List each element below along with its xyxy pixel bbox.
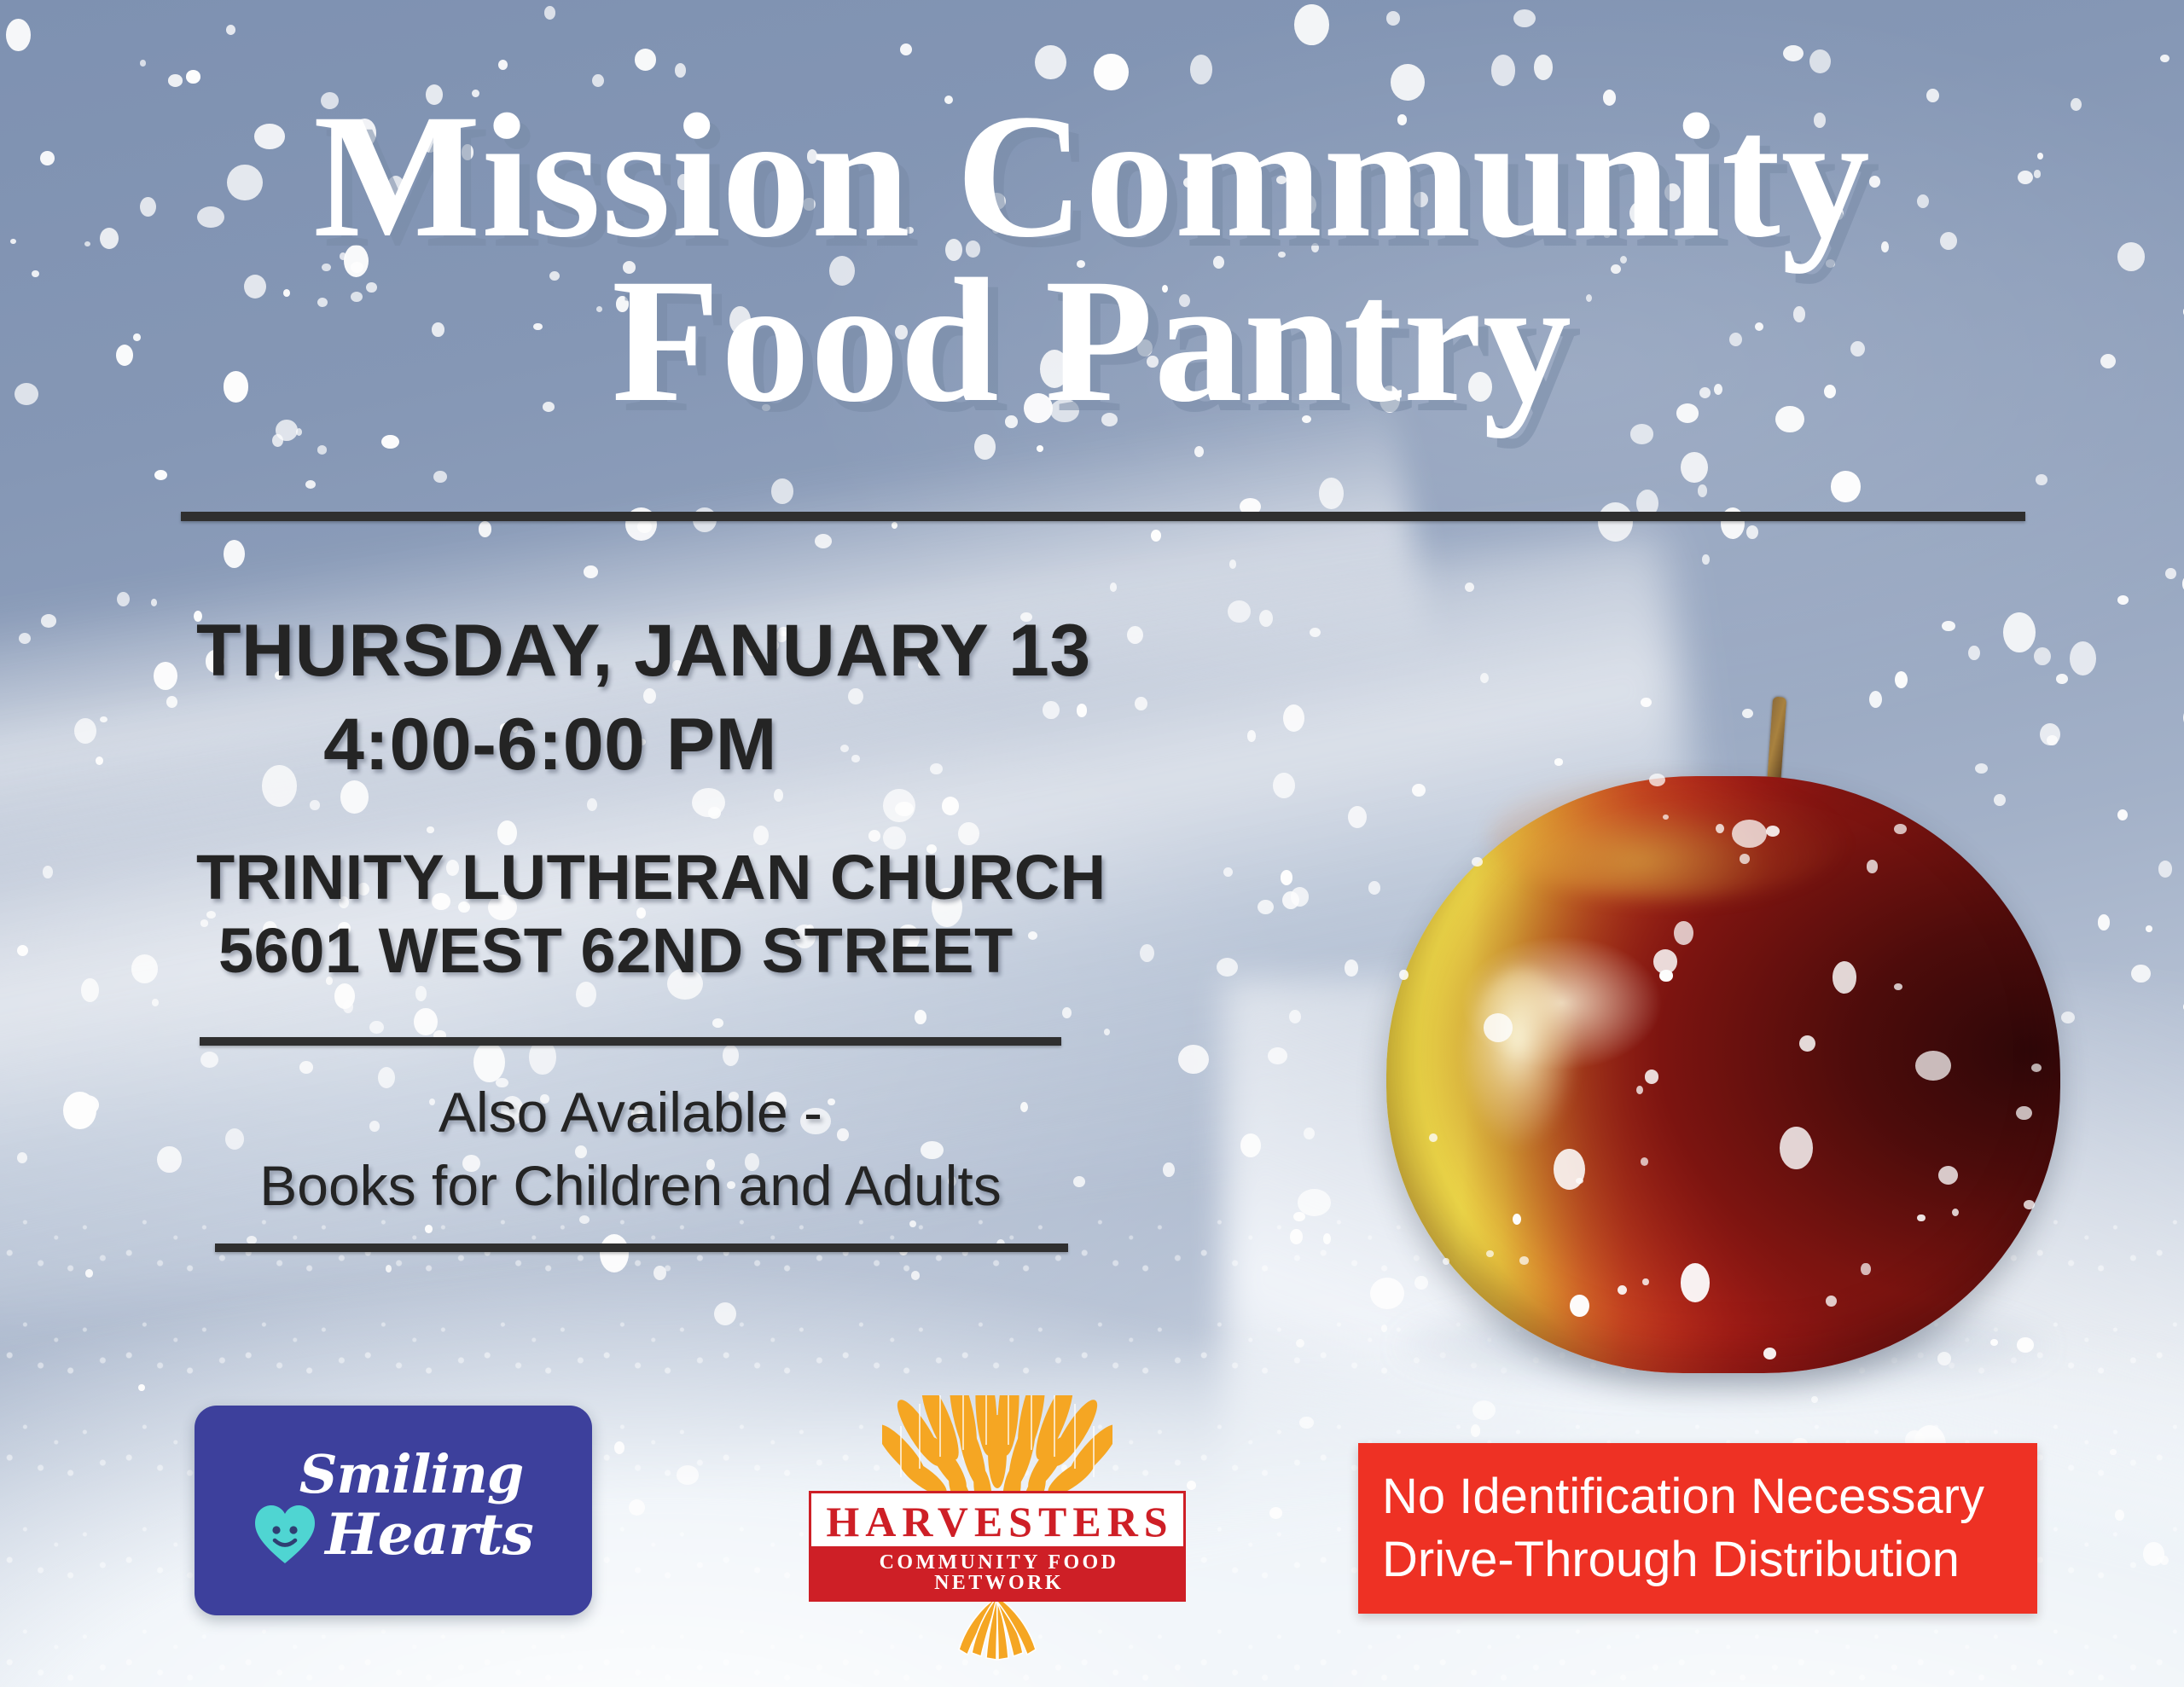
also-available-line-1: Also Available - xyxy=(439,1081,822,1144)
divider-middle xyxy=(200,1037,1061,1046)
venue-name: TRINITY LUTHERAN CHURCH xyxy=(196,842,1107,913)
harvesters-logo: HARVESTERS COMMUNITY FOOD NETWORK xyxy=(809,1395,1186,1687)
apple-photo xyxy=(1386,712,2060,1377)
wheat-stalks-bottom-icon xyxy=(933,1597,1061,1667)
notice-banner: No Identification Necessary Drive-Throug… xyxy=(1358,1443,2037,1614)
event-date: THURSDAY, JANUARY 13 xyxy=(196,612,1066,690)
event-time: 4:00-6:00 PM xyxy=(196,706,1066,784)
smiling-hearts-logo: Smiling Hearts xyxy=(195,1406,592,1615)
harvesters-name: HARVESTERS xyxy=(811,1493,1183,1546)
smiling-hearts-word-2: Hearts xyxy=(325,1501,533,1568)
page-title: Mission Community Food Pantry xyxy=(0,94,2184,424)
also-available-line-2: Books for Children and Adults xyxy=(200,1150,1061,1223)
harvesters-nameplate: HARVESTERS COMMUNITY FOOD NETWORK xyxy=(809,1491,1186,1602)
apple-highlight xyxy=(1467,968,1578,1147)
title-line-2: Food Pantry xyxy=(0,258,2184,423)
smiling-heart-icon xyxy=(253,1504,317,1565)
winter-food-pantry-flyer: Mission Community Food Pantry THURSDAY, … xyxy=(0,0,2184,1687)
venue-address: 5601 WEST 62ND STREET xyxy=(196,914,1092,988)
notice-line-1: No Identification Necessary xyxy=(1382,1465,2013,1528)
divider-top xyxy=(181,512,2025,521)
event-venue: TRINITY LUTHERAN CHURCH 5601 WEST 62ND S… xyxy=(196,841,1092,988)
also-available-note: Also Available - Books for Children and … xyxy=(200,1076,1061,1223)
smiling-hearts-row-2: Hearts xyxy=(195,1501,592,1568)
smiling-hearts-word-1: Smiling xyxy=(195,1443,592,1505)
divider-bottom xyxy=(215,1244,1068,1252)
apple-top-lobe xyxy=(1489,772,1847,900)
harvesters-tagline: COMMUNITY FOOD NETWORK xyxy=(811,1546,1183,1599)
notice-line-2: Drive-Through Distribution xyxy=(1382,1528,2013,1591)
title-line-1: Mission Community xyxy=(0,94,2184,258)
